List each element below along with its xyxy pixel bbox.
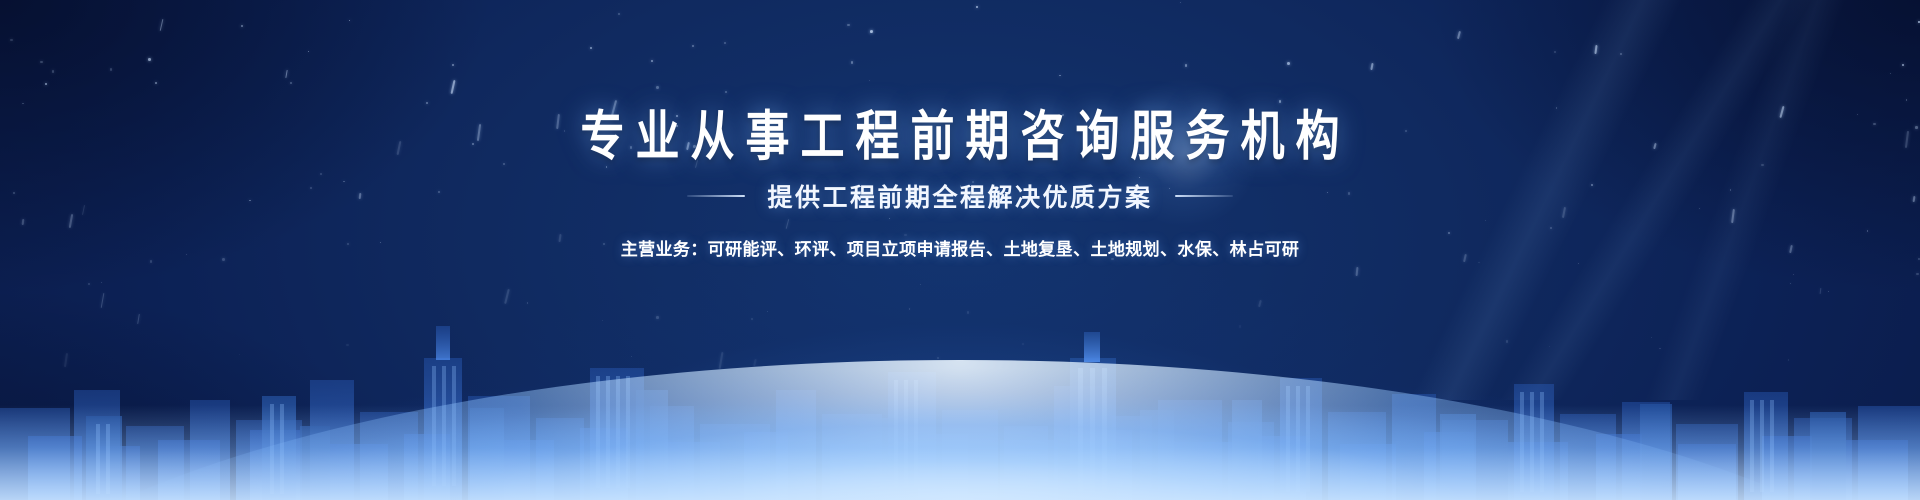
banner-subtitle-row: 提供工程前期全程解决优质方案 bbox=[687, 178, 1232, 214]
banner-headline: 专业从事工程前期咨询服务机构 bbox=[570, 107, 1351, 167]
banner-subtitle: 提供工程前期全程解决优质方案 bbox=[767, 178, 1152, 214]
banner-content: 专业从事工程前期咨询服务机构 提供工程前期全程解决优质方案 主营业务：可研能评、… bbox=[0, 0, 1920, 500]
banner-services-tagline: 主营业务：可研能评、环评、项目立项申请报告、土地复垦、土地规划、水保、林占可研 bbox=[621, 235, 1300, 260]
rule-right-decoration bbox=[1175, 195, 1233, 197]
rule-left-decoration bbox=[687, 195, 745, 197]
hero-banner: 专业从事工程前期咨询服务机构 提供工程前期全程解决优质方案 主营业务：可研能评、… bbox=[0, 0, 1920, 500]
